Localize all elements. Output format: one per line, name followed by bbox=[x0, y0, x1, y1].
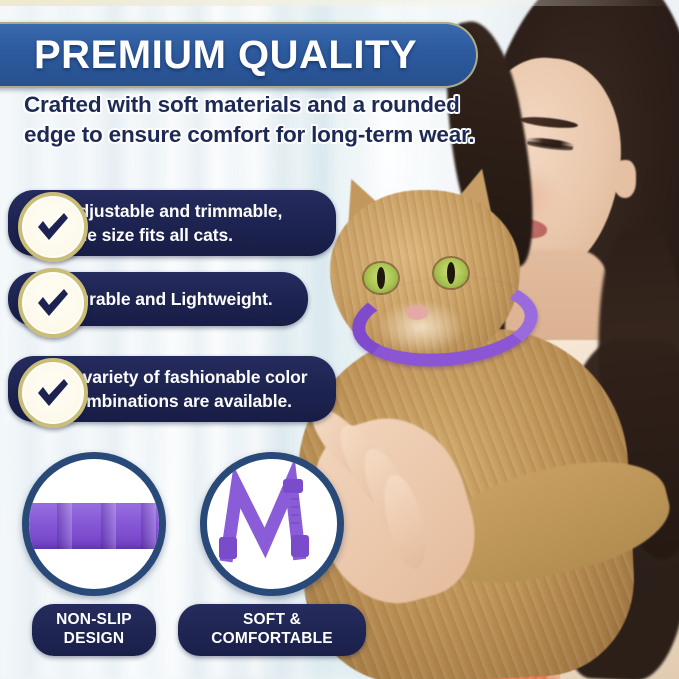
inset-circle bbox=[200, 452, 344, 596]
strap-ridge bbox=[101, 503, 116, 549]
checkmark-icon bbox=[18, 192, 88, 262]
checkmark-icon bbox=[18, 358, 88, 428]
premium-quality-banner: PREMIUM QUALITY bbox=[0, 22, 478, 88]
feature-item-2: Durable and Lightweight. bbox=[8, 272, 308, 326]
inset-label: SOFT & COMFORTABLE bbox=[178, 604, 366, 656]
inset-label: NON-SLIP DESIGN bbox=[32, 604, 156, 656]
subtitle-text: Crafted with soft materials and a rounde… bbox=[24, 90, 494, 150]
inset-soft-comfortable: SOFT & COMFORTABLE bbox=[200, 452, 366, 656]
top-edge-accent bbox=[0, 0, 679, 6]
strap-ridge bbox=[57, 503, 72, 549]
inset-non-slip: NON-SLIP DESIGN bbox=[22, 452, 166, 656]
inset-circle bbox=[22, 452, 166, 596]
strap-ridge bbox=[141, 503, 156, 549]
product-feature-image: PREMIUM QUALITY Crafted with soft materi… bbox=[0, 0, 679, 679]
page-title: PREMIUM QUALITY bbox=[34, 33, 417, 78]
checkmark-icon bbox=[18, 268, 88, 338]
feature-item-1: Adjustable and trimmable, one size fits … bbox=[8, 190, 336, 256]
collar-m-shape-graphic bbox=[207, 459, 323, 575]
feature-item-3: A variety of fashionable color combinati… bbox=[8, 356, 336, 422]
